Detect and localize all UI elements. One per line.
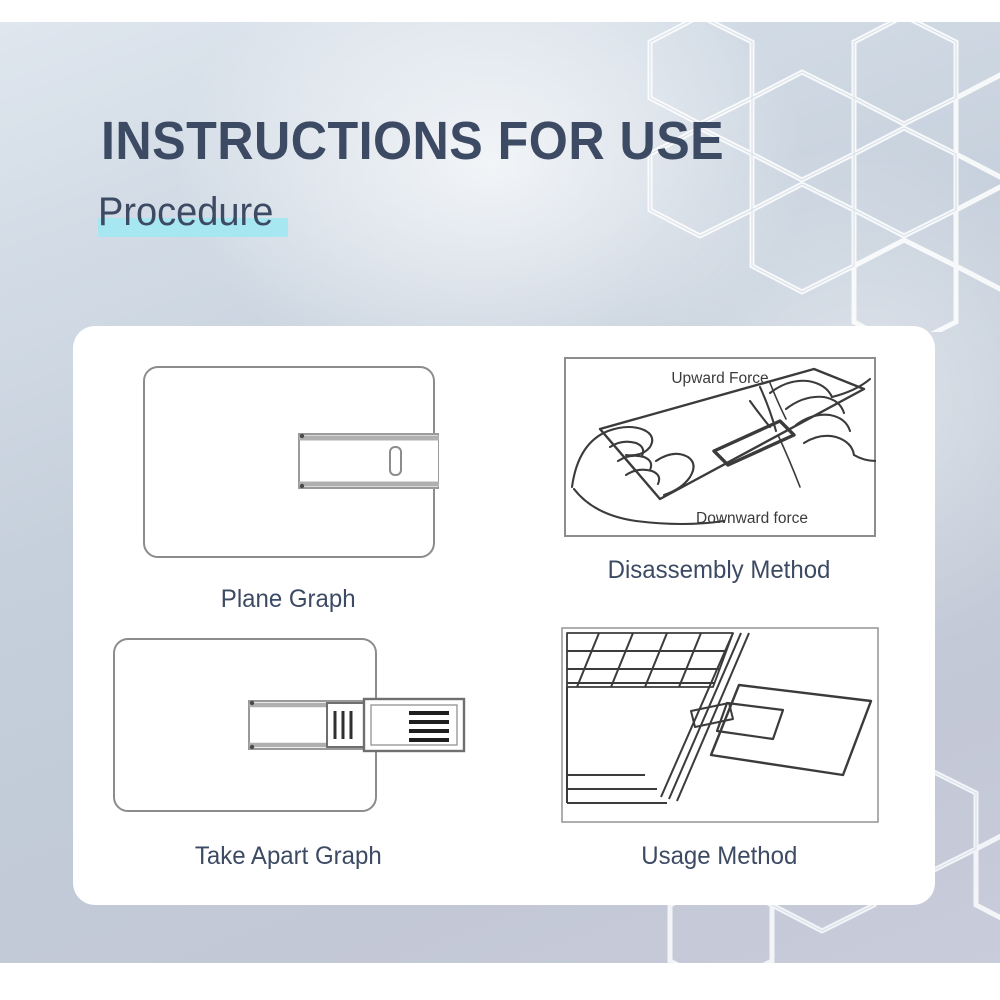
- page-subtitle-wrap: Procedure: [98, 190, 283, 238]
- card-front-with-usb-slot-icon: [139, 362, 439, 562]
- instruction-item-disassembly-method: Upward Force Downward force Disassembly …: [504, 326, 935, 616]
- instruction-item-take-apart-graph: Take Apart Graph: [73, 616, 504, 906]
- disassembly-illustration: Upward Force Downward force: [564, 357, 876, 542]
- take-apart-illustration: [109, 631, 469, 826]
- caption-take-apart-graph: Take Apart Graph: [195, 842, 382, 871]
- two-hands-splitting-card-icon: Upward Force Downward force: [564, 357, 876, 537]
- page-subtitle: Procedure: [98, 190, 273, 234]
- label-downward-force: Downward force: [696, 510, 808, 527]
- caption-disassembly-method: Disassembly Method: [608, 556, 831, 585]
- plane-graph-illustration: [139, 362, 439, 567]
- instructions-grid: Plane Graph: [73, 326, 935, 905]
- caption-plane-graph: Plane Graph: [221, 585, 356, 614]
- label-upward-force: Upward Force: [671, 370, 768, 387]
- usage-illustration: [561, 627, 879, 828]
- card-inserted-into-laptop-port-icon: [561, 627, 879, 823]
- caption-usage-method: Usage Method: [641, 842, 797, 871]
- instruction-item-plane-graph: Plane Graph: [73, 326, 504, 616]
- instructions-panel: Plane Graph: [73, 326, 935, 905]
- card-with-usb-plug-extended-icon: [109, 631, 469, 821]
- page-title: INSTRUCTIONS FOR USE: [101, 110, 724, 172]
- instruction-sheet: INSTRUCTIONS FOR USE Procedure: [0, 0, 1000, 1000]
- instruction-item-usage-method: Usage Method: [504, 616, 935, 906]
- hexagon-pattern-icon: [620, 22, 1000, 332]
